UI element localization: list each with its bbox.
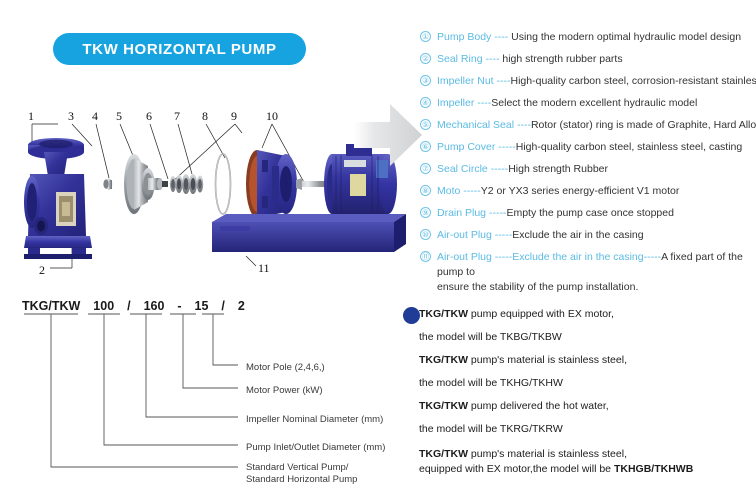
part-mechanical-seal — [162, 174, 203, 194]
bullet-icon — [403, 307, 420, 324]
legend-sep-9: ----- — [486, 207, 506, 219]
note-5-prefix: TKG/TKW — [419, 400, 468, 412]
legend-name-1: Pump Body — [437, 31, 491, 43]
callout-6: 6 — [146, 109, 152, 123]
legend-item-4: ④ Impeller ----Select the modern excelle… — [420, 96, 756, 118]
legend-desc-5: Rotor (stator) ring is made of Graphite,… — [531, 119, 756, 131]
legend-number-9: ⑨ — [420, 207, 431, 218]
legend-name-7: Seal Circle — [437, 163, 488, 175]
legend-item-5: ⑤ Mechanical Seal ----Rotor (stator) rin… — [420, 118, 756, 140]
legend-sep-4: ---- — [474, 97, 491, 109]
legend-item-6: ⑥ Pump Cover -----High-quality carbon st… — [420, 140, 756, 162]
parts-legend: ① Pump Body ---- Using the modern optima… — [420, 30, 756, 295]
legend-desc-7: High strength Rubber — [508, 163, 608, 175]
legend-name-6: Pump Cover — [437, 141, 495, 153]
legend-name-9: Drain Plug — [437, 207, 486, 219]
legend-sep-3: ---- — [494, 75, 511, 87]
legend-name-3: Impeller Nut — [437, 75, 494, 87]
legend-sep-8: ----- — [460, 185, 480, 197]
part-impeller-nut — [103, 179, 112, 190]
note-7-prefix: TKG/TKW — [419, 448, 468, 460]
callout-3: 3 — [68, 109, 74, 123]
legend-desc-4: Select the modern excellent hydraulic mo… — [491, 97, 697, 109]
legend-item-7: ⑦ Seal Circle -----High strength Rubber — [420, 162, 756, 184]
note-3-text: pump's material is stainless steel, — [468, 354, 627, 366]
legend-desc-10: Exclude the air in the casing — [512, 229, 643, 241]
note-1-prefix: TKG/TKW — [419, 308, 468, 320]
callout-8: 8 — [202, 109, 208, 123]
legend-sep-2: ---- — [483, 53, 503, 65]
callout-11: 11 — [258, 261, 270, 275]
page-root: TKW HORIZONTAL PUMP — [0, 0, 756, 500]
page-title: TKW HORIZONTAL PUMP — [82, 41, 276, 58]
note-1-text: pump equipped with EX motor, — [468, 308, 614, 320]
legend-number-3: ③ — [420, 75, 431, 86]
callout-1: 1 — [28, 109, 34, 123]
legend-number-2: ② — [420, 53, 431, 64]
note-7-text: pump's material is stainless steel, — [468, 448, 627, 460]
note-line-2: the model will be TKBG/TKBW — [419, 326, 756, 349]
callout-9: 9 — [231, 109, 237, 123]
legend-sep-1: ---- — [491, 31, 511, 43]
legend-name-5: Mechanical Seal — [437, 119, 514, 131]
code-label-inlet-outlet-diameter: Pump Inlet/Outlet Diameter (mm) — [246, 442, 385, 454]
legend-item-11: ⑪ Air-out Plug -----Exclude the air in t… — [420, 250, 756, 295]
model-naming-notes: TKG/TKW pump equipped with EX motor, the… — [419, 303, 756, 477]
legend-item-3: ③ Impeller Nut ----High-quality carbon s… — [420, 74, 756, 96]
legend-sep-6: ----- — [495, 141, 515, 153]
callout-5: 5 — [116, 109, 122, 123]
legend-number-5: ⑤ — [420, 119, 431, 130]
legend-sep-7: ----- — [488, 163, 508, 175]
legend-name-11: Air-out Plug -----Exclude the air in the… — [437, 251, 661, 263]
part-pump-cover — [246, 150, 297, 218]
legend-sep-10: ----- — [492, 229, 512, 241]
note-8-text: equipped with EX motor,the model will be — [419, 463, 614, 475]
legend-name-8: Moto — [437, 185, 460, 197]
callout-10: 10 — [266, 109, 278, 123]
legend-desc-2: high strength rubber parts — [502, 53, 622, 65]
legend-item-10: ⑩ Air-out Plug -----Exclude the air in t… — [420, 228, 756, 250]
right-arrow-icon — [352, 96, 424, 174]
callout-2: 2 — [39, 263, 45, 277]
note-line-1: TKG/TKW pump equipped with EX motor, — [419, 303, 756, 326]
legend-desc-9: Empty the pump case once stopped — [506, 207, 674, 219]
legend-name-2: Seal Ring — [437, 53, 483, 65]
legend-number-8: ⑧ — [420, 185, 431, 196]
note-line-6: the model will be TKRG/TKRW — [419, 418, 756, 441]
legend-desc-8: Y2 or YX3 series energy-efficient V1 mot… — [481, 185, 680, 197]
part-pump-body — [24, 138, 92, 259]
code-label-motor-pole: Motor Pole (2,4,6,) — [246, 362, 325, 374]
legend-desc-1: Using the modern optimal hydraulic model… — [511, 31, 741, 43]
note-line-5: TKG/TKW pump delivered the hot water, — [419, 395, 756, 418]
note-line-3: TKG/TKW pump's material is stainless ste… — [419, 349, 756, 372]
note-3-prefix: TKG/TKW — [419, 354, 468, 366]
legend-number-6: ⑥ — [420, 141, 431, 152]
note-line-8: equipped with EX motor,the model will be… — [419, 462, 756, 477]
legend-item-2: ② Seal Ring ---- high strength rubber pa… — [420, 52, 756, 74]
code-label-pump-type-line2: Standard Horizontal Pump — [246, 474, 357, 486]
legend-number-11: ⑪ — [420, 251, 431, 262]
legend-number-7: ⑦ — [420, 163, 431, 174]
legend-sep-5: ---- — [514, 119, 531, 131]
legend-number-4: ④ — [420, 97, 431, 108]
legend-desc-6: High-quality carbon steel, stainless ste… — [516, 141, 742, 153]
legend-name-10: Air-out Plug — [437, 229, 492, 241]
part-seal-circle — [216, 154, 231, 214]
legend-number-10: ⑩ — [420, 229, 431, 240]
exploded-pump-assembly: 1 2 3 4 5 6 7 8 9 10 11 — [10, 96, 410, 286]
callout-7: 7 — [174, 109, 180, 123]
legend-desc-3: High-quality carbon steel, corrosion-res… — [511, 75, 756, 87]
legend-desc-11-line2: ensure the stability of the pump install… — [437, 280, 756, 295]
note-8-model: TKHGB/TKHWB — [614, 463, 693, 475]
page-title-banner: TKW HORIZONTAL PUMP — [53, 33, 306, 65]
note-6-text: the model will be TKRG/TKRW — [419, 423, 563, 435]
part-base-frame — [212, 214, 406, 252]
legend-number-1: ① — [420, 31, 431, 42]
code-label-impeller-diameter: Impeller Nominal Diameter (mm) — [246, 414, 383, 426]
legend-item-9: ⑨ Drain Plug -----Empty the pump case on… — [420, 206, 756, 228]
note-2-text: the model will be TKBG/TKBW — [419, 331, 562, 343]
note-line-7: TKG/TKW pump's material is stainless ste… — [419, 447, 756, 462]
code-label-pump-type-line1: Standard Vertical Pump/ — [246, 462, 348, 474]
legend-name-4: Impeller — [437, 97, 474, 109]
callout-4: 4 — [92, 109, 98, 123]
legend-item-8: ⑧ Moto -----Y2 or YX3 series energy-effi… — [420, 184, 756, 206]
part-impeller — [124, 154, 163, 214]
note-4-text: the model will be TKHG/TKHW — [419, 377, 563, 389]
note-5-text: pump delivered the hot water, — [468, 400, 609, 412]
legend-item-1: ① Pump Body ---- Using the modern optima… — [420, 30, 756, 52]
note-line-4: the model will be TKHG/TKHW — [419, 372, 756, 395]
code-label-motor-power: Motor Power (kW) — [246, 385, 323, 397]
